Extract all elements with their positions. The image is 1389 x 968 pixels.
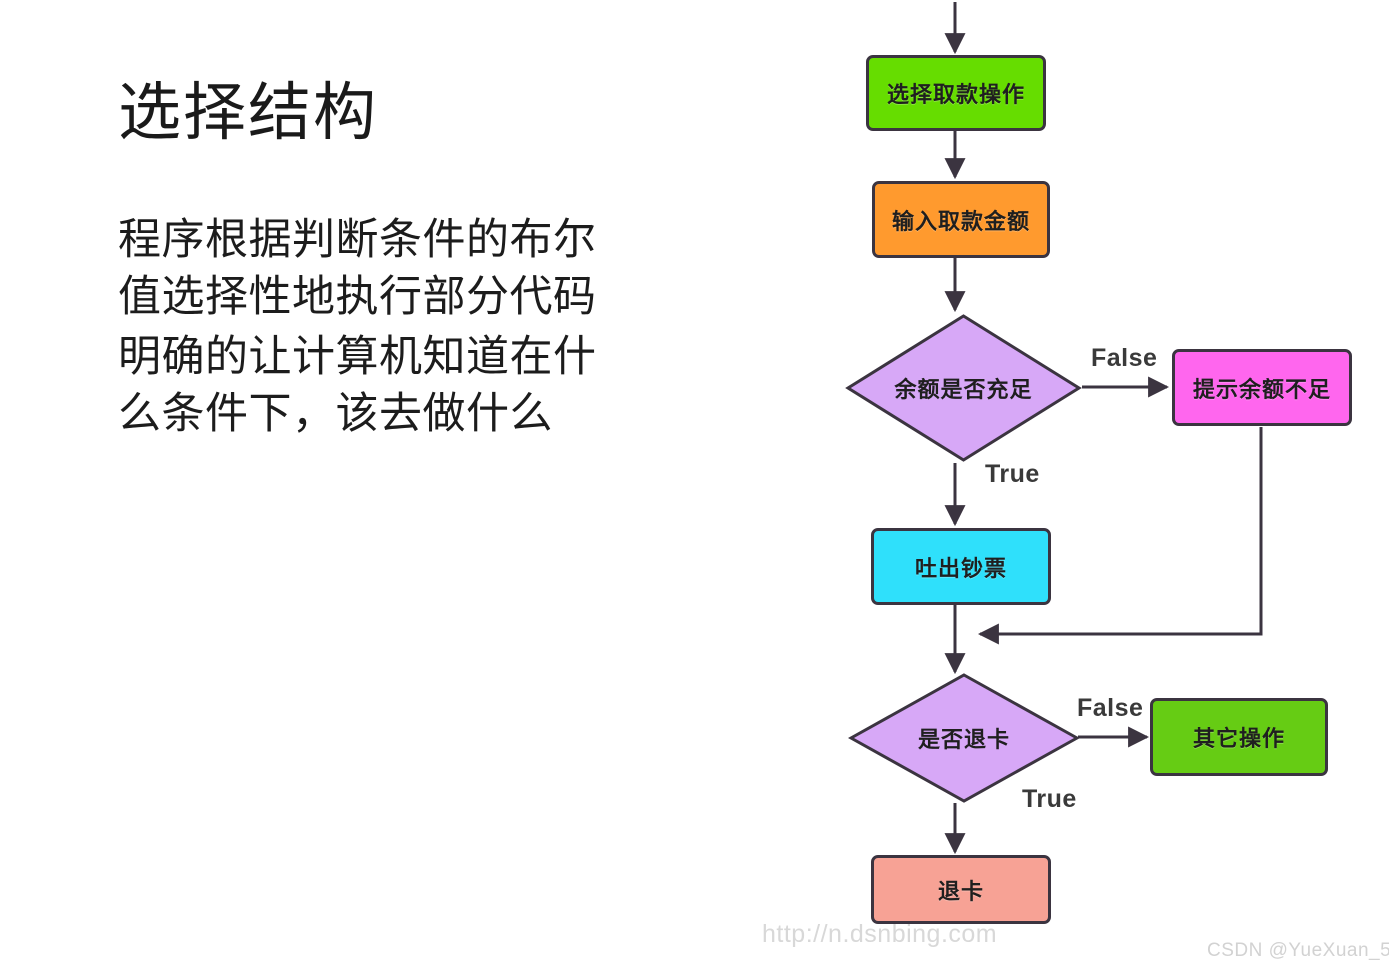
edge-label-eject-true: True	[1022, 785, 1077, 814]
node-dispense-cash[interactable]: 吐出钞票	[871, 528, 1051, 605]
node-balance-check[interactable]: 余额是否充足	[845, 313, 1082, 463]
node-label: 吐出钞票	[915, 551, 1007, 583]
edge-label-balance-true: True	[985, 460, 1040, 489]
node-other-operations[interactable]: 其它操作	[1150, 698, 1328, 776]
node-label: 其它操作	[1193, 721, 1285, 753]
node-eject-card[interactable]: 退卡	[871, 855, 1051, 924]
node-label: 退卡	[938, 874, 984, 906]
flowchart-connectors	[0, 0, 1389, 968]
watermark-author: CSDN @YueXuan_521	[1207, 940, 1389, 962]
edge-label-eject-false: False	[1077, 694, 1143, 723]
node-insufficient-balance[interactable]: 提示余额不足	[1172, 349, 1352, 426]
node-label: 输入取款金额	[892, 204, 1030, 236]
node-label: 提示余额不足	[1193, 372, 1331, 404]
node-select-withdraw[interactable]: 选择取款操作	[866, 55, 1046, 131]
watermark-url: http://n.dsnbing.com	[762, 920, 997, 949]
diamond-shape	[845, 313, 1082, 463]
flowchart: 选择取款操作 输入取款金额 余额是否充足 提示余额不足 吐出钞票 是否退卡	[0, 0, 1389, 968]
node-input-amount[interactable]: 输入取款金额	[872, 181, 1050, 258]
edge-label-balance-false: False	[1091, 344, 1157, 373]
slide-canvas: 选择结构 程序根据判断条件的布尔值选择性地执行部分代码 明确的让计算机知道在什么…	[0, 0, 1389, 968]
node-label: 选择取款操作	[887, 77, 1025, 109]
